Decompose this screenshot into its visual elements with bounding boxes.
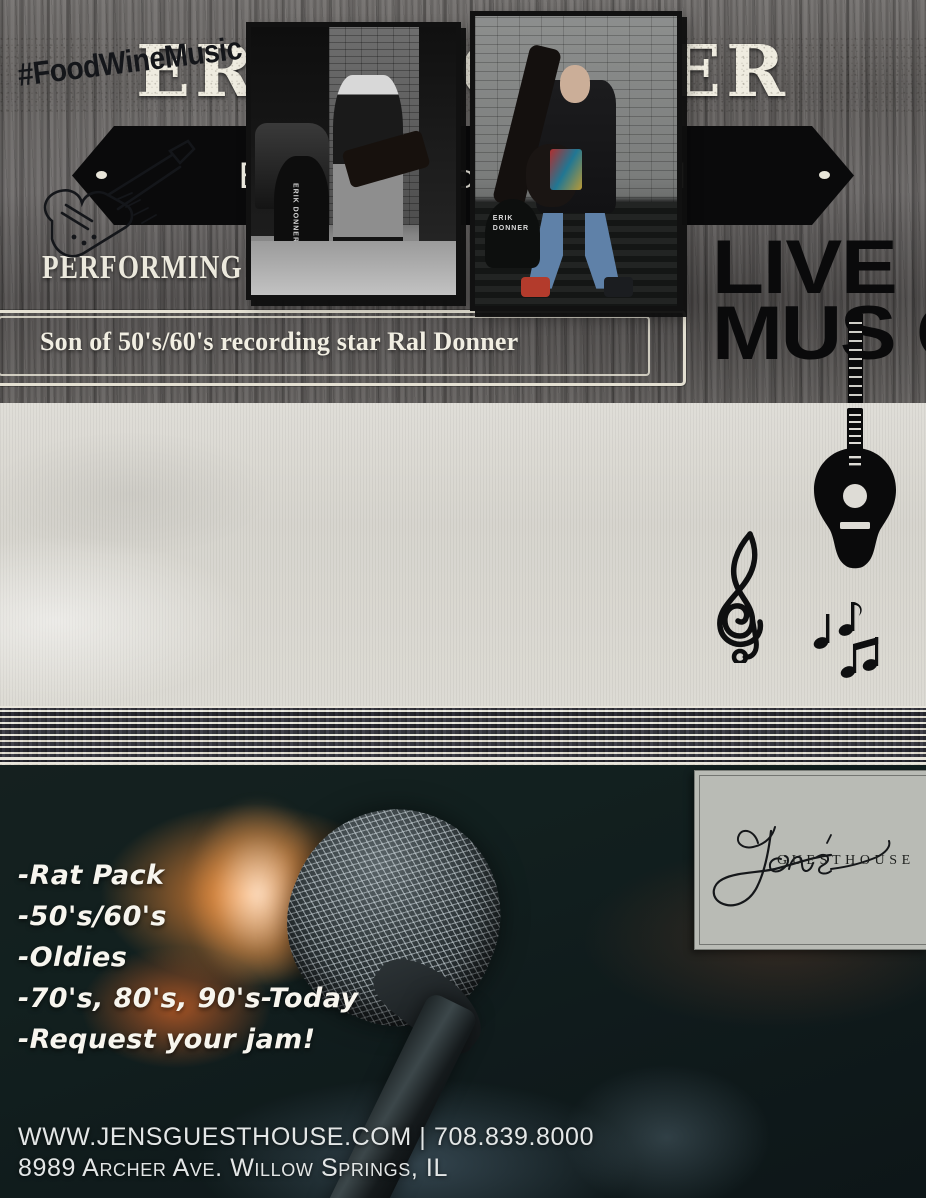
setlist-item: -50's/60's [18, 896, 438, 937]
electric-guitar-drawing-icon [22, 133, 202, 273]
treble-clef-icon [700, 528, 790, 663]
acoustic-guitar-icon [800, 408, 910, 573]
footer-web-phone: WWW.JENSGUESTHOUSE.COM | 708.839.8000 [18, 1122, 594, 1153]
setlist-item: -70's, 80's, 90's-Today [18, 978, 438, 1019]
guitar-case-text-2: ERIK DONNER [493, 214, 540, 234]
tagline-text: Son of 50's/60's recording star Ral Donn… [40, 327, 518, 357]
footer-address: 8989 Archer Ave. Willow Springs, IL [18, 1153, 594, 1184]
venue-logo-subtitle: GUESTHOUSE [777, 853, 915, 869]
tagline-ribbon: Son of 50's/60's recording star Ral Donn… [0, 310, 680, 380]
artist-photo-1: ERIK DONNER [246, 22, 461, 300]
setlist-item: -Request your jam! [18, 1019, 438, 1060]
artist-photo-2: ERIK DONNER [470, 11, 682, 311]
venue-logo-card: GUESTHOUSE [694, 770, 926, 950]
setlist-item: -Oldies [18, 937, 438, 978]
setlist-item: -Rat Pack [18, 855, 438, 896]
live-music-badge: LIVE MUS|C [712, 236, 926, 408]
live-music-line2: MUS|C [712, 302, 926, 366]
stripe-rule-top [0, 706, 926, 708]
stripe-rule-bottom2 [0, 762, 926, 764]
music-notes-icon [812, 598, 884, 680]
stripe-rule-bottom [0, 757, 926, 760]
guitar-case-text-1: ERIK DONNER [290, 183, 299, 243]
footer-contact: WWW.JENSGUESTHOUSE.COM | 708.839.8000 89… [18, 1122, 594, 1183]
setlist: -Rat Pack -50's/60's -Oldies -70's, 80's… [18, 855, 438, 1060]
poster-root: ERIK DONNER Every Thursday 6-9 PM PERFOR… [0, 0, 926, 1198]
